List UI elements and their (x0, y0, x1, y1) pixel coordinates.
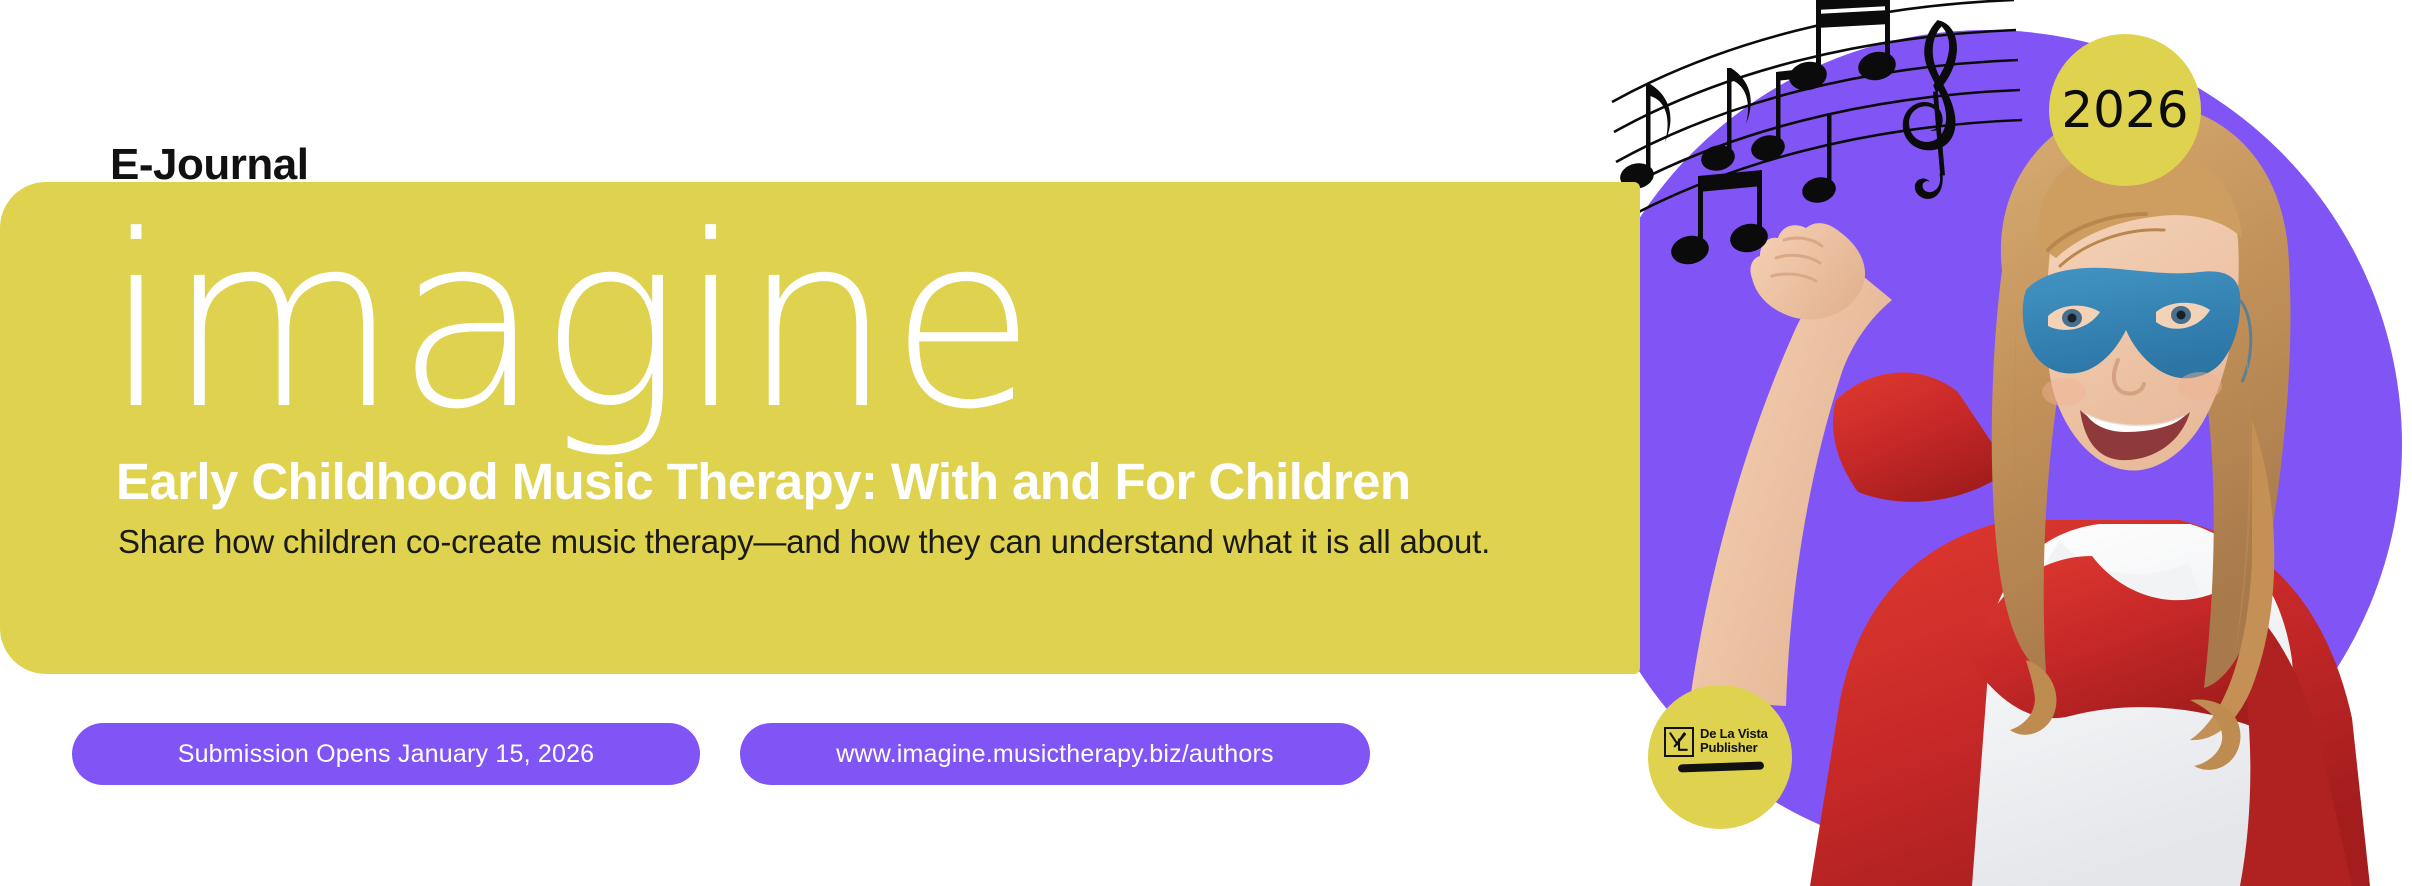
issue-description: Share how children co-create music thera… (118, 524, 1490, 560)
ejournal-call-for-papers-banner: 2026 De La Vista Publisher (0, 0, 2412, 886)
publisher-line-2: Publisher (1700, 741, 1768, 755)
submission-date-label: Submission Opens January 15, 2026 (178, 740, 595, 769)
submission-date-pill[interactable]: Submission Opens January 15, 2026 (72, 723, 700, 785)
year-badge: 2026 (2049, 34, 2201, 186)
publisher-name: De La Vista Publisher (1700, 727, 1768, 754)
issue-theme-subtitle: Early Childhood Music Therapy: With and … (116, 455, 1410, 509)
year-badge-label: 2026 (2061, 81, 2188, 139)
de-la-vista-monogram-icon (1664, 727, 1694, 757)
publisher-logo: De La Vista Publisher (1664, 727, 1782, 757)
kicker-label: E-Journal (110, 143, 308, 187)
treble-clef-icon (1903, 20, 1957, 199)
publisher-badge: De La Vista Publisher (1648, 685, 1792, 829)
music-notes-staff-icon (1610, 0, 2030, 284)
website-url-pill[interactable]: www.imagine.musictherapy.biz/authors (740, 723, 1370, 785)
publisher-line-1: De La Vista (1700, 727, 1768, 741)
imagine-wordmark: imagine (104, 205, 1033, 443)
publisher-brush-underline (1678, 762, 1764, 773)
website-url-label: www.imagine.musictherapy.biz/authors (836, 740, 1273, 769)
